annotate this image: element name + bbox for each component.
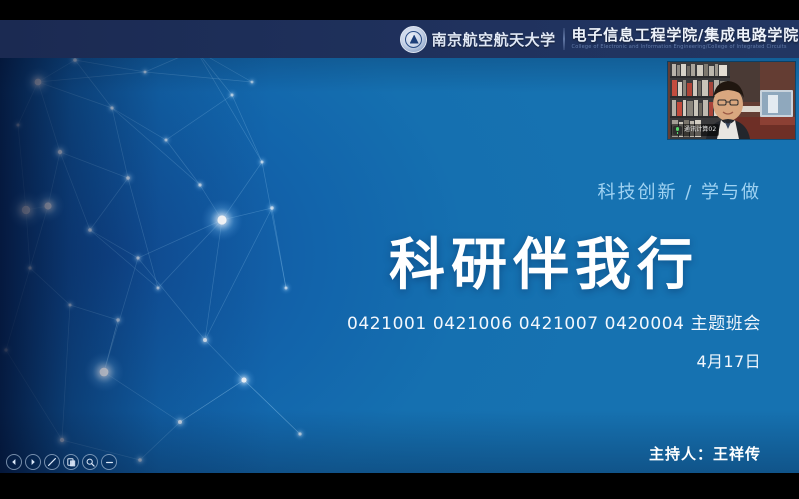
webcam-name-badge: 通讯计算02 (671, 124, 719, 136)
pen-icon (47, 457, 57, 467)
webcam-pip-overlay[interactable]: 通讯计算02 (668, 62, 795, 139)
slide-course-codes: 0421001 0421006 0421007 0420004 主题班会 (347, 309, 761, 334)
slide-main-title: 科研伴我行 (389, 220, 699, 301)
previous-slide-button[interactable] (6, 454, 22, 470)
next-slide-button[interactable] (25, 454, 41, 470)
letterbox-bottom (0, 473, 799, 499)
microphone-icon (673, 126, 682, 135)
minus-icon (105, 458, 114, 467)
caret-right-icon (29, 458, 37, 466)
slide-header-band: 南京航空航天大学 电子信息工程学院/集成电路学院 College of Elec… (0, 20, 799, 58)
slide-host: 主持人：王祥传 (649, 443, 761, 464)
slide-subtitle: 科技创新 / 学与做 (597, 178, 761, 204)
university-name: 南京航空航天大学 (432, 29, 556, 50)
letterbox-top (0, 0, 799, 20)
nuaa-seal-logo-icon (400, 26, 427, 53)
magnifier-icon (86, 458, 95, 467)
college-name-en: College of Electronic and Information En… (572, 44, 799, 50)
college-name-cn: 电子信息工程学院/集成电路学院 (572, 28, 799, 44)
annotate-pen-button[interactable] (44, 454, 60, 470)
pages-icon (67, 458, 76, 467)
header-spacer (0, 20, 400, 58)
zoom-magnifier-button[interactable] (82, 454, 98, 470)
presentation-toolbar[interactable] (6, 454, 117, 470)
screen-share-stage: 南京航空航天大学 电子信息工程学院/集成电路学院 College of Elec… (0, 0, 799, 499)
university-brand: 南京航空航天大学 (400, 20, 556, 58)
slide-date: 4月17日 (696, 348, 761, 372)
header-divider (563, 28, 565, 50)
webcam-participant-name: 通讯计算02 (684, 127, 716, 133)
collapse-toolbar-button[interactable] (101, 454, 117, 470)
caret-left-icon (10, 458, 18, 466)
pages-thumbnail-button[interactable] (63, 454, 79, 470)
college-brand: 电子信息工程学院/集成电路学院 College of Electronic an… (572, 20, 799, 58)
